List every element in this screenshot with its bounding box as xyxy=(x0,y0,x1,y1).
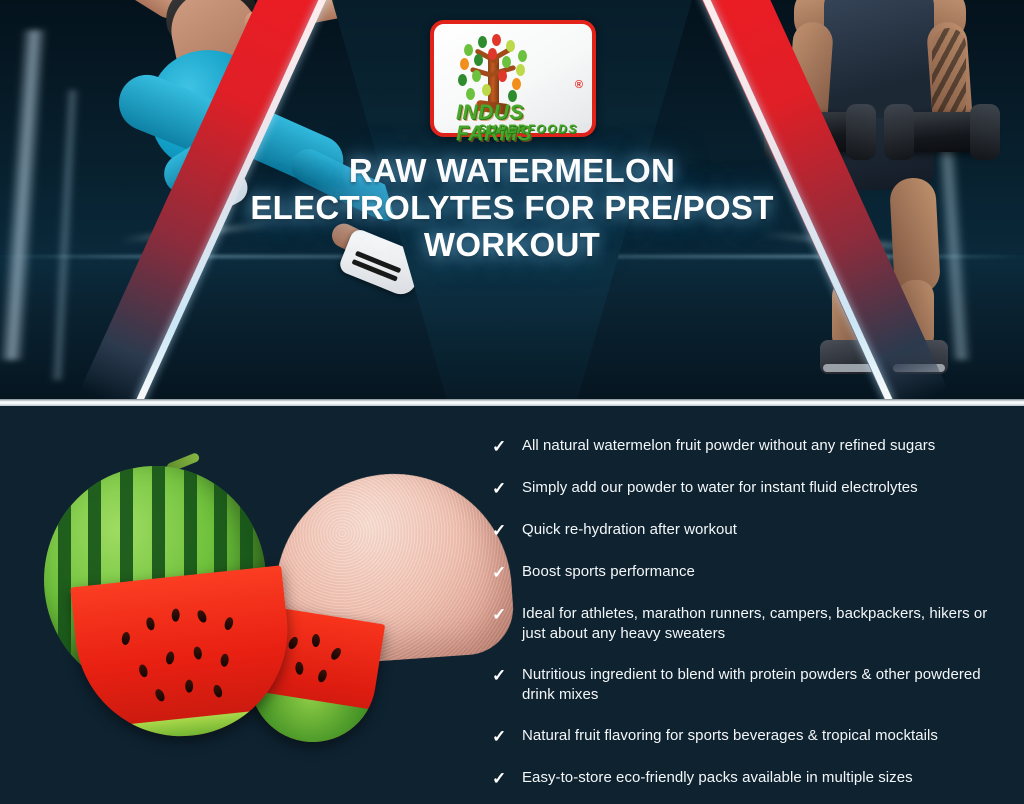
check-icon: ✓ xyxy=(492,768,522,789)
product-image xyxy=(16,418,466,798)
list-item: ✓ Nutritious ingredient to blend with pr… xyxy=(492,665,1012,705)
benefit-text: Easy-to-store eco-friendly packs availab… xyxy=(522,768,913,788)
logo-subtitle: SUPERFOODS xyxy=(478,123,598,135)
list-item: ✓ Boost sports performance xyxy=(492,562,1012,583)
benefit-text: Natural fruit flavoring for sports bever… xyxy=(522,726,938,746)
hero-headline: RAW WATERMELON ELECTROLYTES FOR PRE/POST… xyxy=(232,152,792,263)
hero-banner: INDUS FARMS SUPERFOODS ® RAW WATERMELON … xyxy=(0,0,1024,401)
benefits-list: ✓ All natural watermelon fruit powder wi… xyxy=(492,436,1012,804)
benefit-text: Boost sports performance xyxy=(522,562,695,582)
list-item: ✓ Quick re-hydration after workout xyxy=(492,520,1012,541)
check-icon: ✓ xyxy=(492,436,522,457)
benefit-text: Ideal for athletes, marathon runners, ca… xyxy=(522,604,1012,644)
check-icon: ✓ xyxy=(492,562,522,583)
headline-line-1: RAW WATERMELON xyxy=(232,152,792,189)
benefit-text: All natural watermelon fruit powder with… xyxy=(522,436,935,456)
section-divider xyxy=(0,399,1024,406)
list-item: ✓ Ideal for athletes, marathon runners, … xyxy=(492,604,1012,644)
list-item: ✓ Easy-to-store eco-friendly packs avail… xyxy=(492,768,1012,789)
headline-line-3: WORKOUT xyxy=(232,226,792,263)
benefit-text: Nutritious ingredient to blend with prot… xyxy=(522,665,1012,705)
tree-icon xyxy=(452,32,536,112)
check-icon: ✓ xyxy=(492,478,522,499)
check-icon: ✓ xyxy=(492,726,522,747)
benefits-panel: ✓ All natural watermelon fruit powder wi… xyxy=(0,406,1024,804)
list-item: ✓ Simply add our powder to water for ins… xyxy=(492,478,1012,499)
registered-trademark-icon: ® xyxy=(575,80,583,91)
headline-line-2: ELECTROLYTES FOR PRE/POST xyxy=(232,189,792,226)
watermelon-slice-large xyxy=(70,565,298,746)
check-icon: ✓ xyxy=(492,520,522,541)
check-icon: ✓ xyxy=(492,604,522,625)
benefit-text: Simply add our powder to water for insta… xyxy=(522,478,918,498)
product-infographic: INDUS FARMS SUPERFOODS ® RAW WATERMELON … xyxy=(0,0,1024,804)
check-icon: ✓ xyxy=(492,665,522,686)
benefit-text: Quick re-hydration after workout xyxy=(522,520,737,540)
list-item: ✓ Natural fruit flavoring for sports bev… xyxy=(492,726,1012,747)
brand-logo[interactable]: INDUS FARMS SUPERFOODS ® xyxy=(430,20,596,137)
list-item: ✓ All natural watermelon fruit powder wi… xyxy=(492,436,1012,457)
